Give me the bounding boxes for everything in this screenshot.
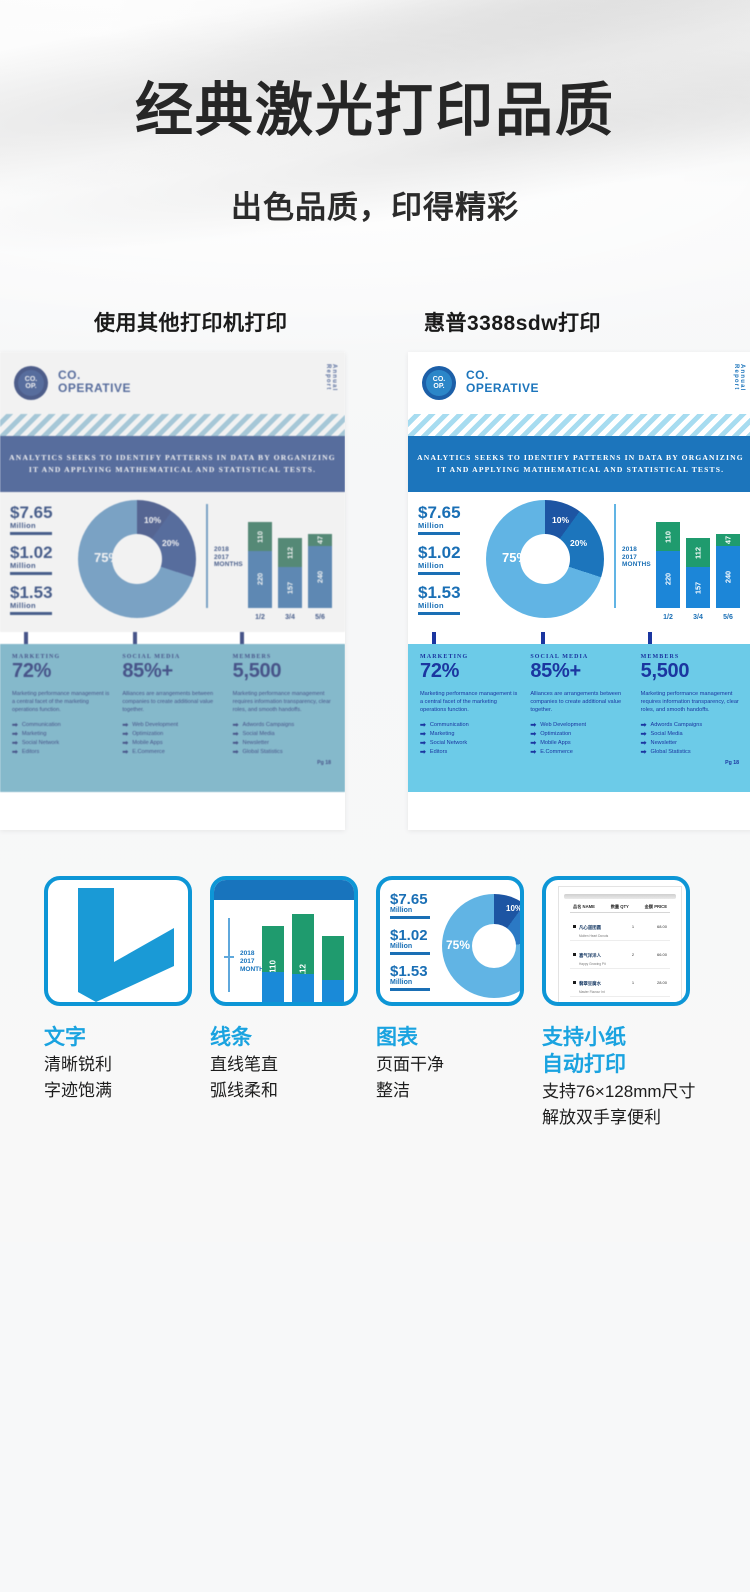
receipt-item-price: 66.00 [641, 952, 667, 957]
bar-value-2018: 112 [694, 547, 703, 559]
stat-desc: Marketing performance management is a ce… [420, 690, 520, 714]
receipt-item-name-en: Happy Growing Pit [579, 962, 625, 966]
logo-line2: OPERATIVE [466, 382, 539, 395]
receipt-header: 品名 NAME 数量 QTY 金额 PRICE [570, 900, 670, 913]
legend-year-2018: 2018 [214, 546, 243, 554]
annual-report-tag: Annual Report [733, 364, 745, 414]
thumb-fig-unit: Million [390, 907, 448, 914]
bar-category: 3/4 [686, 614, 710, 621]
feature-desc-line1: 清晰锐利 [44, 1053, 204, 1077]
stat-list-label: Editors [22, 748, 39, 757]
stat-desc: Marketing performance management require… [233, 690, 333, 714]
poster-stats: MARKETING 72% Marketing performance mana… [0, 644, 345, 792]
stat-list-item: ➡ Editors [420, 748, 520, 757]
bar-category: 1/2 [248, 614, 272, 621]
figure-amount: $7.65 [10, 504, 74, 521]
bar-chart-icon: 2018 2017 MONTHS 110 112 [210, 876, 358, 1006]
figures-list: $7.65 Million $1.02 Million $1.53 Millio… [418, 504, 482, 624]
receipt-item-name: 翡翠豆腐水 [579, 981, 601, 986]
bar-value-2018: 47 [724, 536, 733, 544]
stat-list-label: E.Commerce [132, 748, 165, 757]
receipt-item-name: 凡心道团圆 [579, 925, 601, 930]
legend-year-2017: 2017 [622, 554, 651, 562]
feature-desc-line2: 整洁 [376, 1079, 536, 1103]
thumb-fig-unit: Million [390, 979, 448, 986]
bar-chart: 110 220 1/2 112 157 3/4 47 240 5/6 [248, 504, 336, 622]
arrow-icon: ➡ [420, 722, 426, 729]
receipt-item-price: 28.00 [641, 980, 667, 985]
printer-rail [564, 894, 676, 899]
stat-value: 5,500 [641, 661, 741, 682]
stat-list-item: ➡ Communication [420, 721, 520, 730]
bar-category: 5/6 [716, 614, 740, 621]
receipt-item-qty: 1 [625, 924, 641, 929]
seal-text: CO.OP. [25, 376, 37, 390]
stat-list: ➡ Adwords Campaigns ➡ Social Media ➡ New… [233, 721, 333, 757]
arrow-icon: ➡ [530, 749, 536, 756]
arrow-icon: ➡ [12, 740, 18, 747]
letter-l-icon [44, 876, 192, 1006]
poster-stats: MARKETING 72% Marketing performance mana… [408, 644, 750, 792]
arrow-icon: ➡ [530, 740, 536, 747]
stat-list-item: ➡ Social Network [420, 739, 520, 748]
receipt-col-name: 品名 NAME [573, 904, 595, 910]
donut-label-10: 10% [144, 515, 161, 525]
donut-chart-icon: $7.65 Million $1.02 Million $1.53 Millio… [376, 876, 524, 1006]
coop-seal-icon: CO.OP. [14, 366, 48, 400]
stat-list-label: Optimization [132, 730, 163, 739]
diagonal-stripes [0, 414, 345, 436]
poster-header: CO.OP. CO. OPERATIVE Annual Report [408, 352, 750, 414]
figure-item: $7.65 Million [10, 504, 74, 535]
bullet-icon [573, 953, 576, 956]
stat-column: MARKETING 72% Marketing performance mana… [12, 654, 112, 757]
stat-list-label: Communication [430, 721, 469, 730]
bullet-icon [573, 925, 576, 928]
feature-title: 线条 [210, 1024, 370, 1051]
stat-list-label: E.Commerce [540, 748, 573, 757]
poster-sample-hp-printer: CO.OP. CO. OPERATIVE Annual Report ANALY… [408, 352, 750, 830]
figures-list: $7.65 Million $1.02 Million $1.53 Millio… [10, 504, 74, 624]
feature-item-small-paper: 品名 NAME 数量 QTY 金额 PRICE 凡心道团圆 Molten Hea… [542, 876, 702, 1130]
logo-line2: OPERATIVE [58, 382, 131, 395]
letter-l-glyph [70, 888, 174, 1002]
diagonal-stripes [408, 414, 750, 436]
bar-category: 5/6 [308, 614, 332, 621]
receipt-row: 凡心道团圆 Molten Heart Donuts 1 68.00 [570, 913, 670, 941]
feature-desc-line2: 字迹饱满 [44, 1079, 204, 1103]
stat-value: 5,500 [233, 661, 333, 682]
months-legend: 2018 2017 MONTHS [214, 546, 243, 569]
stat-list: ➡ Communication ➡ Marketing ➡ Social Net… [420, 721, 520, 757]
stat-value: 85%+ [530, 661, 630, 682]
stat-column: MEMBERS 5,500 Marketing performance mana… [641, 654, 741, 757]
coop-seal-icon: CO.OP. [422, 366, 456, 400]
bullet-icon [573, 981, 576, 984]
stat-list-label: Editors [430, 748, 447, 757]
poster-sample-other-printer: CO.OP. CO. OPERATIVE Annual Report ANALY… [0, 352, 345, 830]
comparison-label-right: 惠普3388sdw打印 [424, 307, 601, 337]
stat-value: 72% [12, 661, 112, 682]
receipt-printer-icon: 品名 NAME 数量 QTY 金额 PRICE 凡心道团圆 Molten Hea… [542, 876, 690, 1006]
bar-chart: 110 220 1/2 112 157 3/4 47 240 5/6 [656, 504, 744, 622]
page-subtitle: 出色品质，印得精彩 [0, 140, 750, 227]
promo-page: 经典激光打印品质 出色品质，印得精彩 使用其他打印机打印 惠普3388sdw打印… [0, 0, 750, 1242]
stat-list-label: Global Statistics [651, 748, 691, 757]
bar-category: 3/4 [278, 614, 302, 621]
donut-label-75: 75% [94, 550, 120, 565]
poster-charts: $7.65 Million $1.02 Million $1.53 Millio… [0, 492, 345, 632]
feature-title: 文字 [44, 1024, 204, 1051]
seal-text: CO.OP. [433, 376, 445, 390]
stat-list-label: Social Network [22, 739, 59, 748]
stat-list-label: Marketing [22, 730, 47, 739]
arrow-icon: ➡ [420, 731, 426, 738]
figure-item: $7.65 Million [418, 504, 482, 535]
stat-list-item: ➡ Adwords Campaigns [233, 721, 333, 730]
stat-list-label: Mobile Apps [540, 739, 570, 748]
thumb-fig-amount: $7.65 [390, 892, 448, 907]
figure-unit: Million [10, 601, 74, 610]
feature-desc-line1: 支持76×128mm尺寸 [542, 1080, 702, 1104]
annual-report-tag: Annual Report [325, 364, 337, 414]
poster-logo-text: CO. OPERATIVE [466, 369, 539, 395]
stat-list-item: ➡ E.Commerce [122, 748, 222, 757]
stat-desc: Alliances are arrangements between compa… [530, 690, 630, 714]
stat-list-item: ➡ Communication [12, 721, 112, 730]
arrow-icon: ➡ [233, 740, 239, 747]
receipt-row: 翡翠豆腐水 Master Flavour Int 1 28.00 [570, 969, 670, 997]
arrow-icon: ➡ [641, 731, 647, 738]
stat-list-item: ➡ Global Statistics [233, 748, 333, 757]
stat-column: MEMBERS 5,500 Marketing performance mana… [233, 654, 333, 757]
figure-amount: $1.53 [418, 584, 482, 601]
stat-ticks [0, 632, 345, 644]
figure-amount: $1.02 [10, 544, 74, 561]
figure-amount: $1.53 [10, 584, 74, 601]
bar-value-2017: 240 [724, 571, 733, 583]
figure-item: $1.53 Million [418, 584, 482, 615]
legend-year-2017: 2017 [214, 554, 243, 562]
arrow-icon: ➡ [530, 722, 536, 729]
donut-chart: 75% 20% 10% [486, 500, 606, 620]
stat-desc: Marketing performance management require… [641, 690, 741, 714]
feature-caption: 支持小纸 自动打印 支持76×128mm尺寸 解放双手享便利 [542, 1024, 702, 1130]
arrow-icon: ➡ [641, 722, 647, 729]
stat-list-item: ➡ Global Statistics [641, 748, 741, 757]
stat-list-label: Mobile Apps [132, 739, 162, 748]
figure-amount: $7.65 [418, 504, 482, 521]
stat-list: ➡ Web Development ➡ Optimization ➡ Mobil… [122, 721, 222, 757]
feature-caption: 线条 直线笔直 弧线柔和 [210, 1024, 370, 1103]
stat-list: ➡ Communication ➡ Marketing ➡ Social Net… [12, 721, 112, 757]
figure-unit: Million [418, 601, 482, 610]
feature-item-charts: $7.65 Million $1.02 Million $1.53 Millio… [376, 876, 536, 1103]
stat-list-item: ➡ Mobile Apps [530, 739, 630, 748]
stat-ticks [408, 632, 750, 644]
stat-list-item: ➡ Mobile Apps [122, 739, 222, 748]
stat-column: SOCIAL MEDIA 85%+ Alliances are arrangem… [530, 654, 630, 757]
donut-label-20: 20% [570, 538, 587, 548]
arrow-icon: ➡ [530, 731, 536, 738]
receipt-item-price: 68.00 [641, 924, 667, 929]
stat-list-item: ➡ Web Development [122, 721, 222, 730]
stat-list-label: Web Development [132, 721, 178, 730]
arrow-icon: ➡ [233, 722, 239, 729]
feature-caption: 图表 页面干净 整洁 [376, 1024, 536, 1103]
stat-list-item: ➡ Optimization [122, 730, 222, 739]
feature-caption: 文字 清晰锐利 字迹饱满 [44, 1024, 204, 1103]
donut-label-10: 10% [552, 515, 569, 525]
arrow-icon: ➡ [641, 740, 647, 747]
comparison-label-left: 使用其他打印机打印 [94, 307, 288, 337]
arrow-icon: ➡ [233, 749, 239, 756]
thumb-fig-amount: $1.02 [390, 928, 448, 943]
legend-months: MONTHS [214, 561, 243, 569]
stat-list-label: Social Media [651, 730, 683, 739]
receipt-row: 十里水果汤 Perfect Soup 1 688.00 [570, 997, 670, 1006]
poster-logo-text: CO. OPERATIVE [58, 369, 131, 395]
stat-desc: Alliances are arrangements between compa… [122, 690, 222, 714]
banner-text: ANALYTICS SEEKS TO IDENTIFY PATTERNS IN … [9, 452, 336, 476]
stat-list-item: ➡ Web Development [530, 721, 630, 730]
stat-list-item: ➡ Marketing [420, 730, 520, 739]
figure-amount: $1.02 [418, 544, 482, 561]
bar-category: 1/2 [656, 614, 680, 621]
feature-desc-line1: 页面干净 [376, 1053, 536, 1077]
stat-list-label: Adwords Campaigns [651, 721, 703, 730]
receipt-row: 喜气洋洋人 Happy Growing Pit 2 66.00 [570, 941, 670, 969]
figure-item: $1.02 Million [418, 544, 482, 575]
page-number: Pg 18 [317, 760, 331, 766]
receipt-col-qty: 数量 QTY [611, 904, 629, 910]
legend-year-2018: 2018 [622, 546, 651, 554]
stat-list-item: ➡ Newsletter [233, 739, 333, 748]
bar-value-2018: 47 [316, 536, 325, 544]
receipt-item-name-en: Molten Heart Donuts [579, 934, 625, 938]
figure-unit: Million [10, 561, 74, 570]
page-title: 经典激光打印品质 [0, 0, 750, 140]
poster-banner: ANALYTICS SEEKS TO IDENTIFY PATTERNS IN … [0, 436, 345, 492]
donut-label-20: 20% [162, 538, 179, 548]
receipt-item-name-en: Master Flavour Int [579, 990, 625, 994]
stat-list-label: Communication [22, 721, 61, 730]
donut-chart: 75% 20% 10% [78, 500, 198, 620]
stat-list-item: ➡ E.Commerce [530, 748, 630, 757]
stat-column: MARKETING 72% Marketing performance mana… [420, 654, 520, 757]
stat-value: 72% [420, 661, 520, 682]
feature-desc-line1: 直线笔直 [210, 1053, 370, 1077]
bar-value-2018: 110 [256, 531, 265, 543]
stat-list-label: Web Development [540, 721, 586, 730]
months-legend: 2018 2017 MONTHS [622, 546, 651, 569]
thumb-fig-amount: $1.53 [390, 964, 448, 979]
figure-unit: Million [10, 521, 74, 530]
stat-list-item: ➡ Adwords Campaigns [641, 721, 741, 730]
stat-list-label: Global Statistics [243, 748, 283, 757]
thumb-donut-center: 75% [446, 938, 470, 952]
arrow-icon: ➡ [122, 749, 128, 756]
bar-value-2017: 220 [664, 573, 673, 585]
stat-list-label: Optimization [540, 730, 571, 739]
stat-list-label: Newsletter [243, 739, 269, 748]
stat-list-item: ➡ Social Network [12, 739, 112, 748]
bar-value-2017: 157 [694, 581, 703, 593]
arrow-icon: ➡ [12, 749, 18, 756]
receipt-item-qty: 1 [625, 980, 641, 985]
bar-value-2018: 110 [664, 531, 673, 543]
arrow-icon: ➡ [420, 749, 426, 756]
feature-title: 支持小纸 [542, 1024, 702, 1051]
stat-list-item: ➡ Optimization [530, 730, 630, 739]
receipt-col-price: 金额 PRICE [645, 904, 667, 910]
feature-title: 图表 [376, 1024, 536, 1051]
receipt-item-name: 喜气洋洋人 [579, 953, 601, 958]
poster-banner: ANALYTICS SEEKS TO IDENTIFY PATTERNS IN … [408, 436, 750, 492]
feature-desc-line2: 弧线柔和 [210, 1079, 370, 1103]
arrow-icon: ➡ [12, 731, 18, 738]
poster-charts: $7.65 Million $1.02 Million $1.53 Millio… [408, 492, 750, 632]
feature-item-text: 文字 清晰锐利 字迹饱满 [44, 876, 204, 1103]
donut-label-75: 75% [502, 550, 528, 565]
poster-header: CO.OP. CO. OPERATIVE Annual Report [0, 352, 345, 414]
arrow-icon: ➡ [233, 731, 239, 738]
stat-value: 85%+ [122, 661, 222, 682]
stat-list-label: Adwords Campaigns [243, 721, 295, 730]
stat-list-item: ➡ Social Media [641, 730, 741, 739]
stat-list-item: ➡ Newsletter [641, 739, 741, 748]
bar-value-2017: 220 [256, 573, 265, 585]
figure-item: $1.53 Million [10, 584, 74, 615]
stat-column: SOCIAL MEDIA 85%+ Alliances are arrangem… [122, 654, 222, 757]
receipt-item-qty: 2 [625, 952, 641, 957]
thumb-donut-slice: 10% [506, 904, 522, 913]
bar-value-2017: 157 [286, 581, 295, 593]
thumb-fig-unit: Million [390, 943, 448, 950]
stat-list: ➡ Adwords Campaigns ➡ Social Media ➡ New… [641, 721, 741, 757]
feature-title-2: 自动打印 [542, 1051, 702, 1078]
figure-unit: Million [418, 561, 482, 570]
arrow-icon: ➡ [122, 740, 128, 747]
figure-unit: Million [418, 521, 482, 530]
arrow-icon: ➡ [122, 722, 128, 729]
feature-desc-line2: 解放双手享便利 [542, 1106, 702, 1130]
stat-list-label: Social Media [243, 730, 275, 739]
arrow-icon: ➡ [641, 749, 647, 756]
legend-months: MONTHS [622, 561, 651, 569]
page-number: Pg 18 [725, 760, 739, 766]
arrow-icon: ➡ [122, 731, 128, 738]
stat-list: ➡ Web Development ➡ Optimization ➡ Mobil… [530, 721, 630, 757]
bar-value-2018: 112 [286, 547, 295, 559]
arrow-icon: ➡ [420, 740, 426, 747]
stat-list-label: Social Network [430, 739, 467, 748]
receipt-paper: 品名 NAME 数量 QTY 金额 PRICE 凡心道团圆 Molten Hea… [558, 886, 682, 1006]
stat-list-item: ➡ Marketing [12, 730, 112, 739]
arrow-icon: ➡ [12, 722, 18, 729]
figure-item: $1.02 Million [10, 544, 74, 575]
stat-list-item: ➡ Editors [12, 748, 112, 757]
stat-list-item: ➡ Social Media [233, 730, 333, 739]
stat-list-label: Marketing [430, 730, 455, 739]
bar-value-2017: 240 [316, 571, 325, 583]
stat-list-label: Newsletter [651, 739, 677, 748]
stat-desc: Marketing performance management is a ce… [12, 690, 112, 714]
banner-text: ANALYTICS SEEKS TO IDENTIFY PATTERNS IN … [417, 452, 744, 476]
feature-item-lines: 2018 2017 MONTHS 110 112 线条 直线笔直 [210, 876, 370, 1103]
